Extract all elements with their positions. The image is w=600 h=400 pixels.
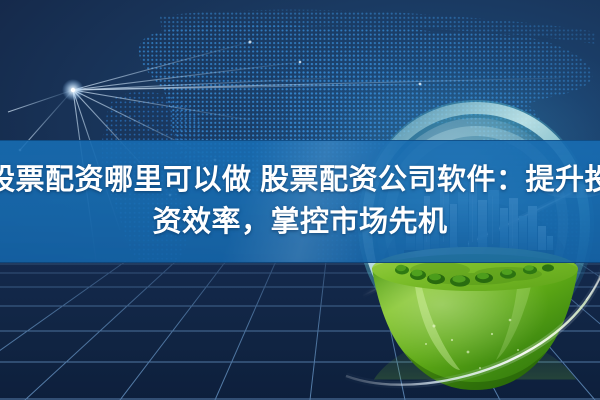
banner-image: 股票配资哪里可以做 股票配资公司软件：提升投 资效率，掌控市场先机 — [0, 0, 600, 400]
headline-line-1: 股票配资哪里可以做 股票配资公司软件：提升投 — [0, 159, 600, 201]
page-title: 股票配资哪里可以做 股票配资公司软件：提升投 资效率，掌控市场先机 — [0, 140, 600, 261]
headline-line-2: 资效率，掌控市场先机 — [152, 201, 447, 243]
orbit-ring — [340, 250, 600, 390]
